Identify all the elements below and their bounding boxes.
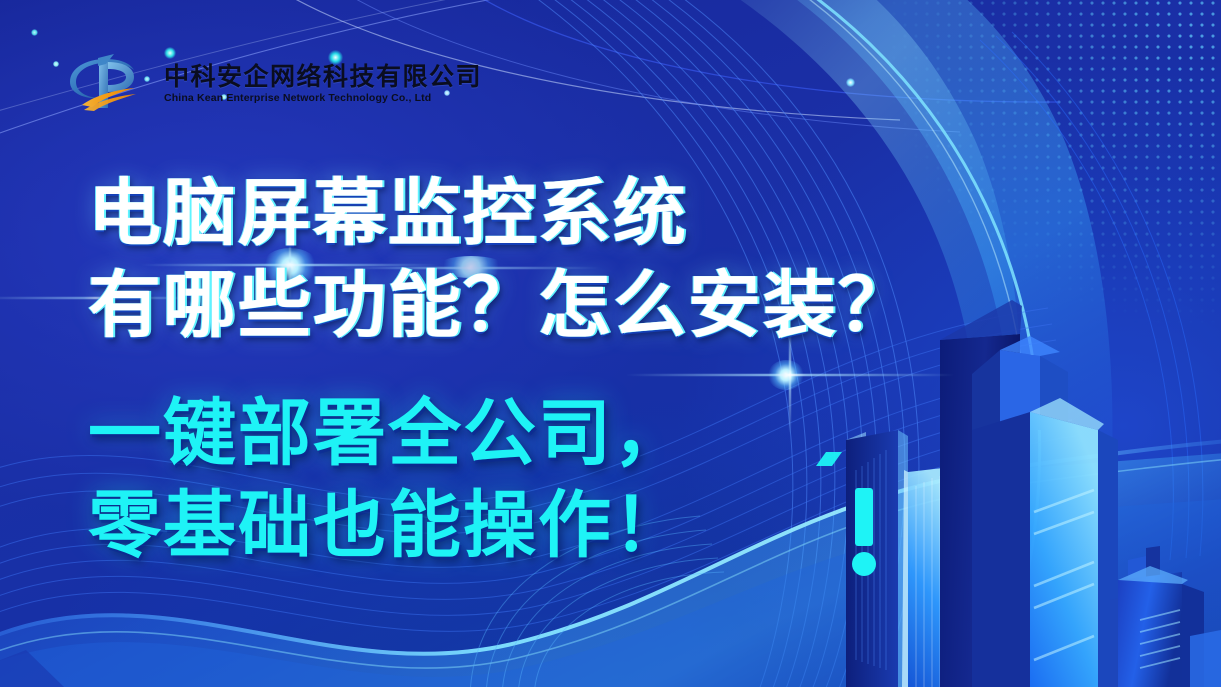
brand-name-en: China Kean Enterprise Network Technology… <box>164 93 482 105</box>
subheadline-line-1: 一键部署全公司， <box>88 388 688 480</box>
headline-block: 电脑屏幕监控系统 有哪些功能？怎么安装？ <box>88 168 913 352</box>
brand-text-block: 中科安企网络科技有限公司 China Kean Enterprise Netwo… <box>164 62 482 105</box>
headline-line-2: 有哪些功能？怎么安装？ <box>88 260 913 352</box>
subheadline-block: 一键部署全公司， 零基础也能操作！ <box>88 388 688 572</box>
subheadline-line-2: 零基础也能操作！ <box>88 480 688 572</box>
brand-lockup: 中科安企网络科技有限公司 China Kean Enterprise Netwo… <box>58 52 482 114</box>
kean-p-monogram-logo <box>58 52 150 114</box>
promo-banner: 中科安企网络科技有限公司 China Kean Enterprise Netwo… <box>0 0 1221 687</box>
headline-line-1: 电脑屏幕监控系统 <box>88 168 913 260</box>
brand-name-cn: 中科安企网络科技有限公司 <box>164 64 482 91</box>
